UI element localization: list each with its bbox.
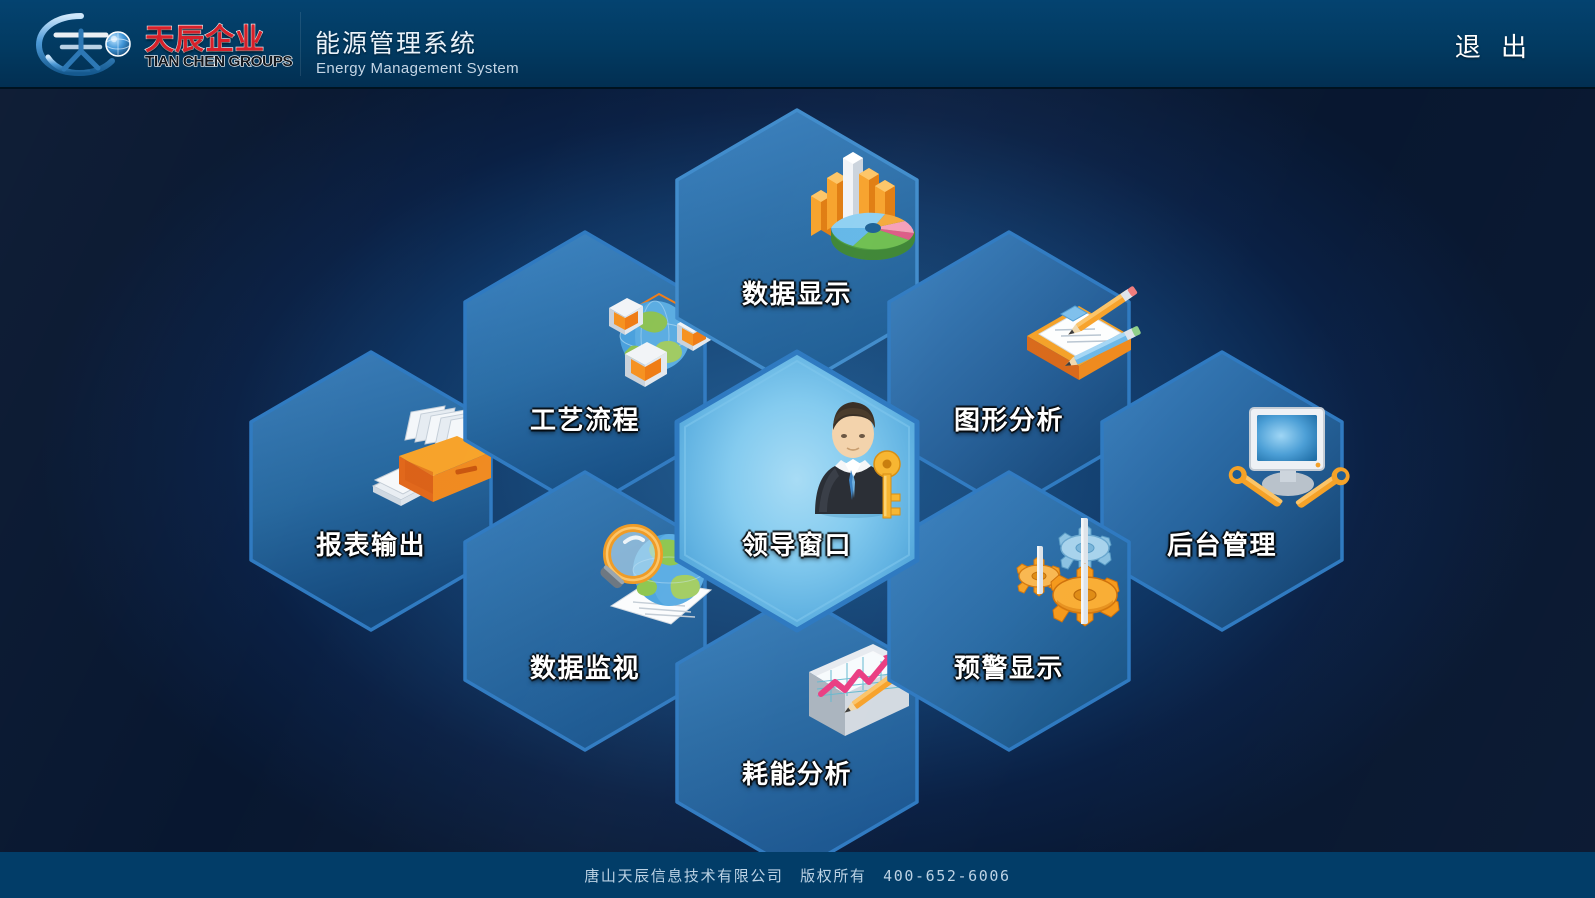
footer-copyright: 唐山天辰信息技术有限公司 版权所有 400-652-6006 <box>584 865 1010 886</box>
honeycomb-menu: 报表输出 <box>0 89 1595 852</box>
menu-hex-alert-display[interactable]: 预警显示 <box>885 468 1133 754</box>
menu-hex-data-monitoring[interactable]: 数据监视 <box>461 468 709 754</box>
brand-name-cn: 天辰企业 <box>145 16 265 58</box>
system-title-en: Energy Management System <box>316 60 519 77</box>
menu-hex-report-output[interactable]: 报表输出 <box>247 348 495 634</box>
header-divider <box>300 12 301 76</box>
menu-hex-leader-window[interactable]: 领导窗口 <box>673 348 921 634</box>
app-header: 天辰企业 TIAN CHEN GROUPS 能源管理系统 Energy Mana… <box>0 0 1595 89</box>
brand-logo[interactable]: 天辰企业 TIAN CHEN GROUPS <box>34 9 299 81</box>
main-stage: 报表输出 <box>0 89 1595 852</box>
app-root: 天辰企业 TIAN CHEN GROUPS 能源管理系统 Energy Mana… <box>0 0 1595 898</box>
tianchen-logo-icon <box>34 11 139 79</box>
app-footer: 唐山天辰信息技术有限公司 版权所有 400-652-6006 <box>0 852 1595 898</box>
system-title-cn: 能源管理系统 <box>315 24 477 60</box>
menu-hex-backend-admin[interactable]: 后台管理 <box>1098 348 1346 634</box>
brand-name-en: TIAN CHEN GROUPS <box>145 53 292 70</box>
logout-button[interactable]: 退 出 <box>1455 27 1533 64</box>
